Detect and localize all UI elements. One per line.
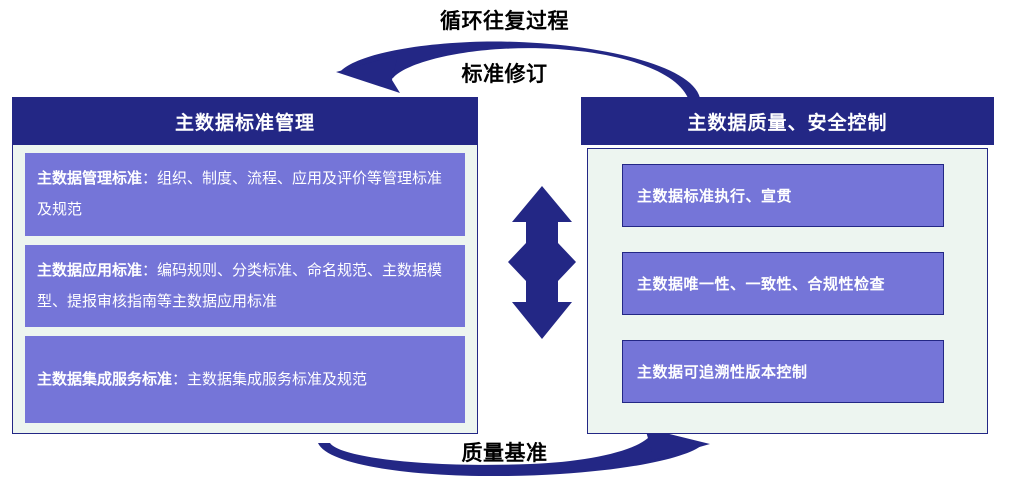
right-item-consistency-check[interactable]: 主数据唯一性、一致性、合规性检查 — [622, 252, 944, 315]
left-panel: 主数据标准管理 主数据管理标准：组织、制度、流程、应用及评价等管理标准及规范 主… — [12, 97, 478, 434]
left-item-text: 主数据管理标准：组织、制度、流程、应用及评价等管理标准及规范 — [37, 163, 455, 225]
left-item-application-standard[interactable]: 主数据应用标准：编码规则、分类标准、命名规范、主数据模型、提报审核指南等主数据应… — [25, 245, 465, 328]
right-panel: 主数据质量、安全控制 主数据标准执行、宣贯 主数据唯一性、一致性、合规性检查 主… — [581, 97, 994, 434]
left-item-text: 主数据应用标准：编码规则、分类标准、命名规范、主数据模型、提报审核指南等主数据应… — [37, 255, 455, 317]
left-panel-body: 主数据管理标准：组织、制度、流程、应用及评价等管理标准及规范 主数据应用标准：编… — [12, 145, 478, 434]
left-item-lead: 主数据管理标准 — [37, 169, 142, 187]
left-item-sep: ： — [142, 169, 157, 187]
left-item-sep: ： — [142, 261, 157, 279]
left-item-lead: 主数据集成服务标准 — [37, 370, 172, 388]
left-item-integration-service-standard[interactable]: 主数据集成服务标准：主数据集成服务标准及规范 — [25, 336, 465, 423]
bottom-arrow-caption: 质量基准 — [0, 437, 1009, 467]
left-item-rest: 主数据集成服务标准及规范 — [187, 370, 367, 388]
right-item-version-control[interactable]: 主数据可追溯性版本控制 — [622, 340, 944, 403]
left-item-lead: 主数据应用标准 — [37, 261, 142, 279]
right-panel-body: 主数据标准执行、宣贯 主数据唯一性、一致性、合规性检查 主数据可追溯性版本控制 — [587, 148, 988, 434]
center-bidirectional-arrow — [508, 186, 576, 339]
cycle-process-label: 循环往复过程 — [0, 8, 1009, 34]
left-panel-title: 主数据标准管理 — [12, 97, 478, 145]
right-item-standard-execution[interactable]: 主数据标准执行、宣贯 — [622, 164, 944, 227]
left-item-sep: ： — [172, 370, 187, 388]
diagram-canvas: 循环往复过程 标准修订 质量基准 主数据标准管理 主数据管理标准：组织、制度、流… — [0, 0, 1009, 481]
top-arrow-caption: 标准修订 — [0, 58, 1009, 88]
right-panel-title: 主数据质量、安全控制 — [581, 97, 994, 145]
left-item-text: 主数据集成服务标准：主数据集成服务标准及规范 — [37, 364, 367, 395]
left-item-management-standard[interactable]: 主数据管理标准：组织、制度、流程、应用及评价等管理标准及规范 — [25, 153, 465, 236]
